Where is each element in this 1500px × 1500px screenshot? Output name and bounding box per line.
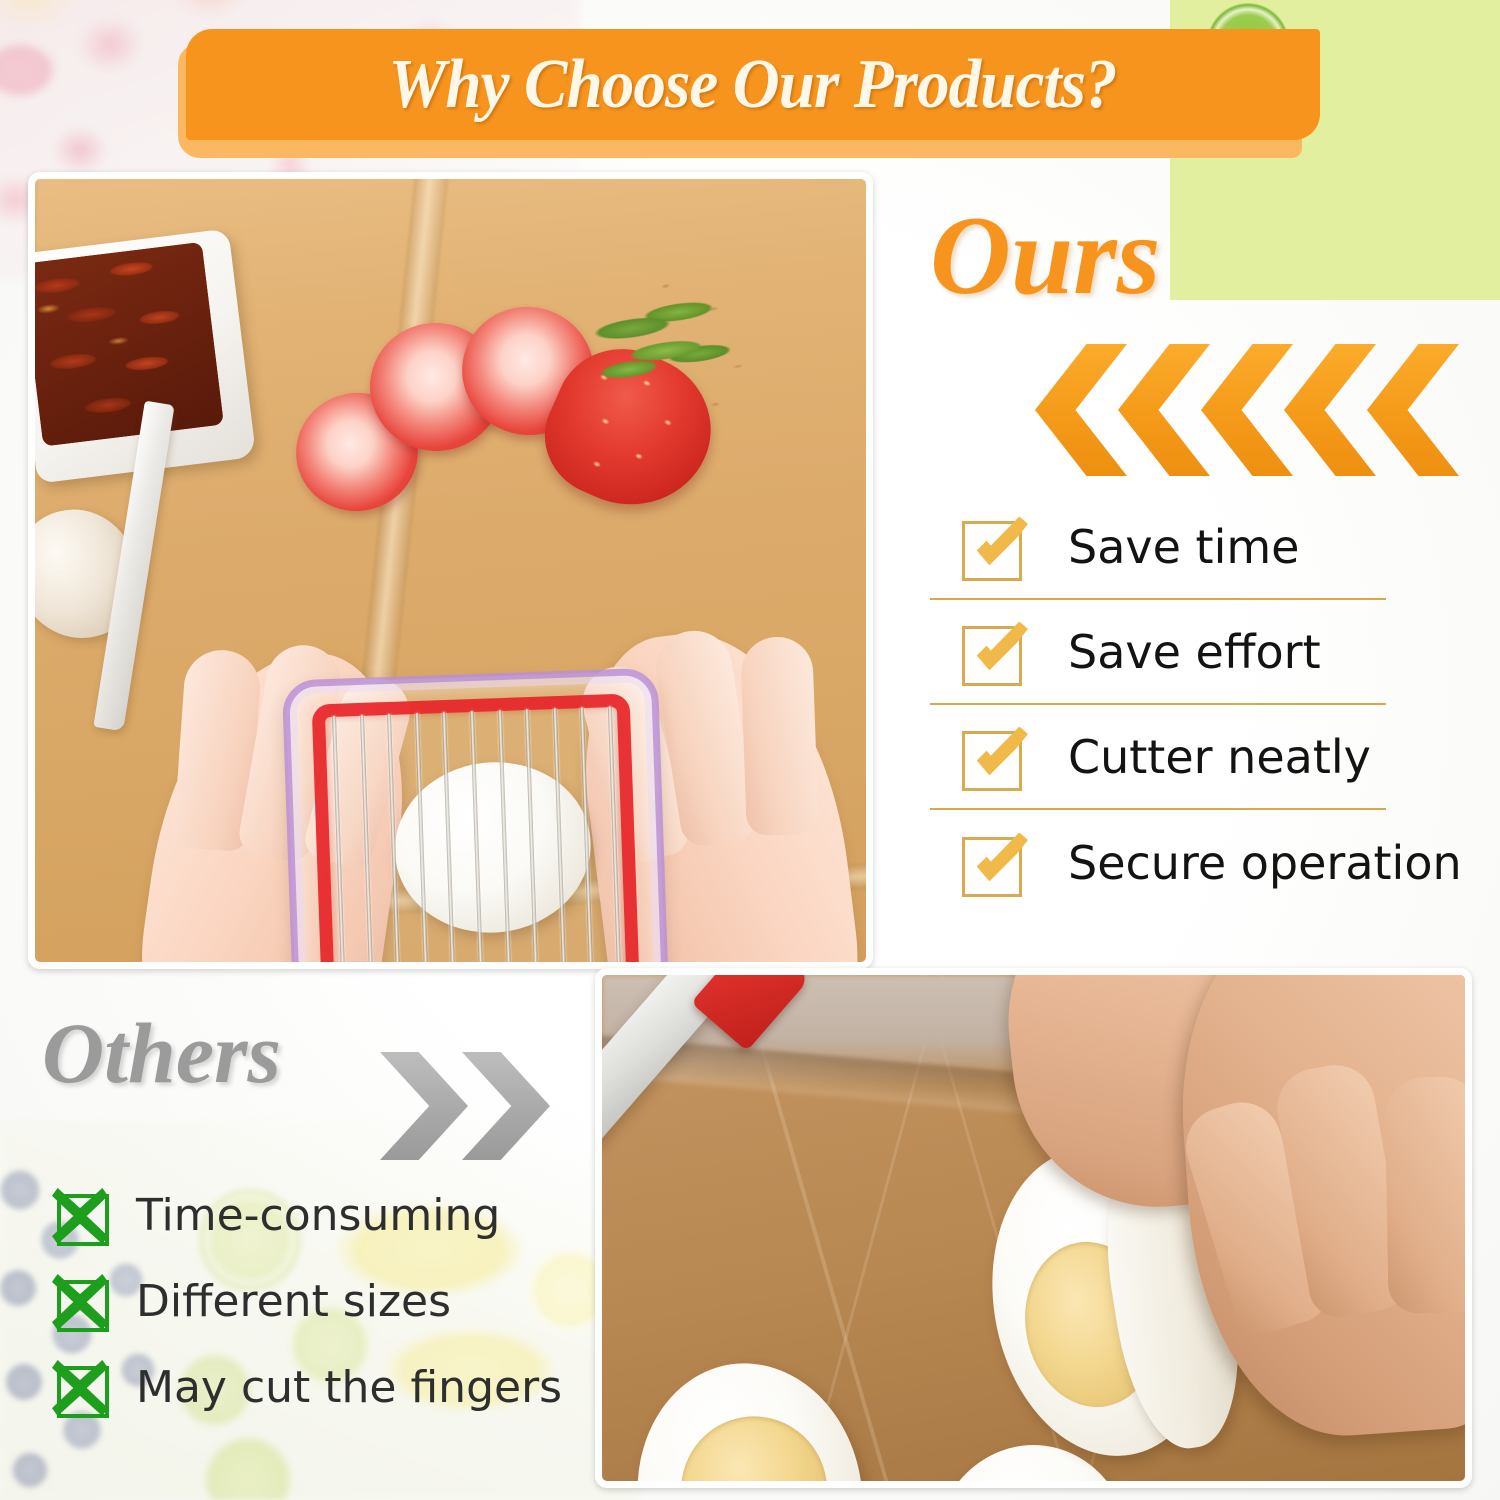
list-item: Save time xyxy=(930,495,1386,600)
checkbox-checked-icon xyxy=(958,727,1024,787)
ours-item-label: Save effort xyxy=(1068,625,1321,679)
chevron-left-icon xyxy=(1284,344,1376,476)
checkbox-checked-icon xyxy=(958,622,1024,682)
list-item: Cutter neatly xyxy=(930,705,1386,810)
list-item: Secure operation xyxy=(930,810,1386,915)
header-banner: Why Choose Our Products? xyxy=(186,29,1320,144)
chevron-right-icon xyxy=(380,1052,468,1160)
checkbox-checked-icon xyxy=(958,833,1024,893)
egg-slicer-product xyxy=(285,671,667,962)
chevron-left-icon xyxy=(1035,344,1127,476)
finger xyxy=(740,636,819,836)
others-drawback-list: Time-consuming Different sizes May cut t… xyxy=(52,1172,562,1430)
banner-main: Why Choose Our Products? xyxy=(186,29,1320,140)
slicer-wire xyxy=(580,707,594,962)
slicer-wire xyxy=(525,709,539,962)
knife-cutting-egg-photo xyxy=(595,968,1472,1488)
others-item-label: May cut the fingers xyxy=(136,1362,562,1413)
ours-heading: Ours xyxy=(930,200,1475,312)
egg-slicer-in-hands-photo xyxy=(28,172,873,969)
ours-item-label: Cutter neatly xyxy=(1068,730,1371,784)
chevron-left-icon xyxy=(1367,344,1459,476)
checkbox-x-icon xyxy=(52,1362,106,1412)
slicer-wire xyxy=(470,711,484,962)
checkbox-x-icon xyxy=(52,1276,106,1326)
list-item: Save effort xyxy=(930,600,1386,705)
slicer-wire xyxy=(442,712,456,962)
egg-yolk xyxy=(965,1477,1101,1481)
list-item: Time-consuming xyxy=(52,1172,562,1258)
others-heading-block: Others xyxy=(42,1010,281,1096)
finger xyxy=(1385,1076,1465,1314)
checkbox-checked-icon xyxy=(958,517,1024,577)
egg-yolk xyxy=(672,1407,837,1481)
slicer-wire xyxy=(553,708,567,962)
others-heading: Others xyxy=(42,1010,281,1096)
slicer-wire xyxy=(498,710,512,962)
others-item-label: Time-consuming xyxy=(136,1190,500,1241)
sliced-strawberries xyxy=(290,289,690,549)
list-item: May cut the fingers xyxy=(52,1344,562,1430)
slicer-steel-wires xyxy=(332,706,622,962)
page-title: Why Choose Our Products? xyxy=(389,45,1117,125)
ours-item-label: Secure operation xyxy=(1068,836,1462,890)
chevron-left-icon xyxy=(1118,344,1210,476)
chevron-left-icon xyxy=(1201,344,1293,476)
slicer-wire xyxy=(387,714,401,962)
chevron-right-icon xyxy=(462,1052,550,1160)
ours-benefit-list: Save time Save effort Cutter neatly Secu… xyxy=(930,495,1490,915)
photo-inner-ours xyxy=(35,179,866,962)
others-chevron-row xyxy=(380,1052,560,1160)
ours-chevron-row xyxy=(1035,344,1460,476)
list-item: Different sizes xyxy=(52,1258,562,1344)
checkbox-x-icon xyxy=(52,1190,106,1240)
photo-inner-others xyxy=(602,975,1465,1481)
others-item-label: Different sizes xyxy=(136,1276,451,1327)
ours-heading-block: Ours xyxy=(930,200,1475,312)
slicer-wire xyxy=(415,713,429,962)
slicer-wire xyxy=(360,715,374,962)
ours-item-label: Save time xyxy=(1068,520,1299,574)
